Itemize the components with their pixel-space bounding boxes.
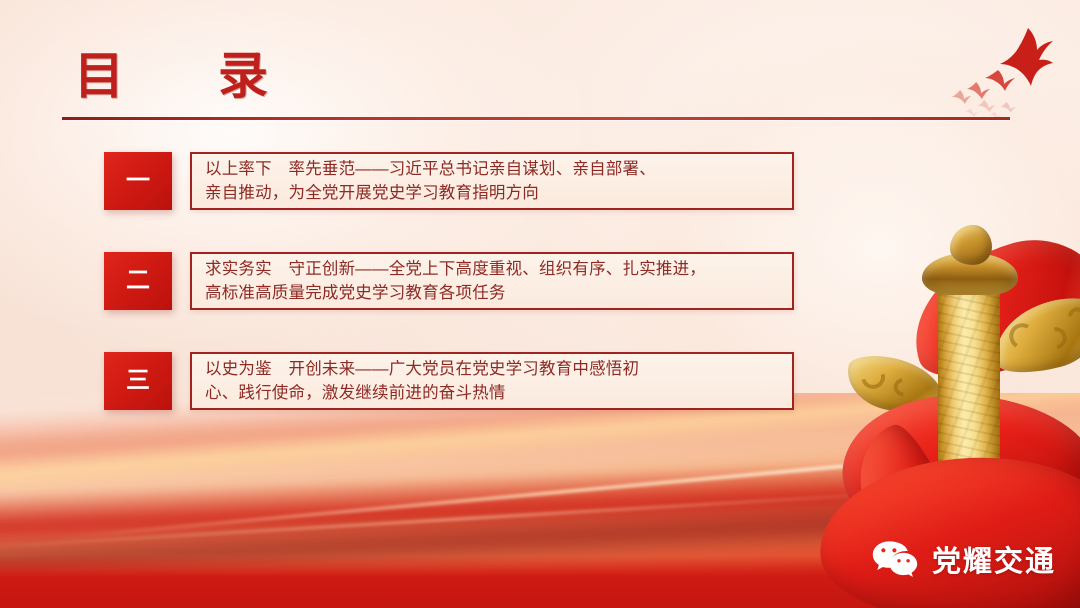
- toc-number-badge-1: 一: [104, 152, 172, 210]
- table-of-contents: 一 以上率下 率先垂范——习近平总书记亲自谋划、亲自部署、 亲自推动，为全党开展…: [104, 152, 794, 410]
- flying-birds-icon: [936, 16, 1066, 121]
- toc-text-box-3[interactable]: 以史为鉴 开创未来——广大党员在党史学习教育中感悟初 心、践行使命，激发继续前进…: [190, 352, 794, 410]
- wechat-account-name: 党耀交通: [932, 538, 1056, 580]
- toc-text-box-2[interactable]: 求实务实 守正创新——全党上下高度重视、组织有序、扎实推进， 高标准高质量完成党…: [190, 252, 794, 310]
- presentation-slide: 目 录 一 以上率下 率先垂范——习近平总书记亲自谋划、亲自部署、 亲自推动，为…: [0, 0, 1080, 608]
- title-divider: [62, 117, 1010, 120]
- toc-item-label-2: 求实务实 守正创新——全党上下高度重视、组织有序、扎实推进， 高标准高质量完成党…: [205, 257, 706, 306]
- toc-item-2[interactable]: 二 求实务实 守正创新——全党上下高度重视、组织有序、扎实推进， 高标准高质量完…: [104, 252, 794, 310]
- wechat-icon: [871, 539, 919, 579]
- toc-item-1[interactable]: 一 以上率下 率先垂范——习近平总书记亲自谋划、亲自部署、 亲自推动，为全党开展…: [104, 152, 794, 210]
- toc-item-3[interactable]: 三 以史为鉴 开创未来——广大党员在党史学习教育中感悟初 心、践行使命，激发继续…: [104, 352, 794, 410]
- page-title: 目 录: [74, 36, 290, 108]
- toc-item-label-1: 以上率下 率先垂范——习近平总书记亲自谋划、亲自部署、 亲自推动，为全党开展党史…: [205, 157, 656, 206]
- toc-number-badge-3: 三: [104, 352, 172, 410]
- wechat-watermark: 党耀交通: [871, 538, 1056, 580]
- toc-number-badge-2: 二: [104, 252, 172, 310]
- toc-item-label-3: 以史为鉴 开创未来——广大党员在党史学习教育中感悟初 心、践行使命，激发继续前进…: [205, 357, 639, 406]
- toc-text-box-1[interactable]: 以上率下 率先垂范——习近平总书记亲自谋划、亲自部署、 亲自推动，为全党开展党史…: [190, 152, 794, 210]
